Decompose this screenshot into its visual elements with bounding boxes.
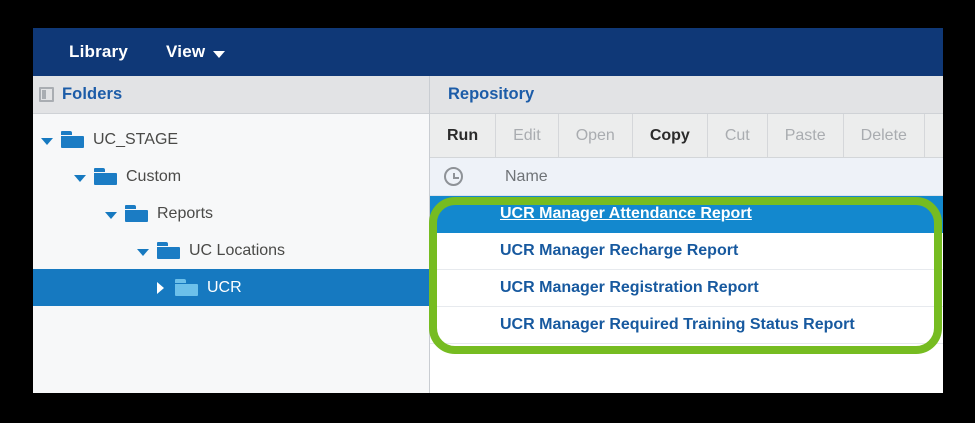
folder-icon: [175, 279, 198, 296]
chevron-down-icon: [213, 51, 225, 58]
menu-item-library[interactable]: Library: [69, 42, 128, 62]
repository-toolbar: Run Edit Open Copy Cut Paste Delete: [430, 114, 943, 158]
report-name: UCR Manager Attendance Report: [500, 205, 752, 223]
clock-icon[interactable]: [444, 167, 463, 186]
folder-icon: [94, 168, 117, 185]
folder-icon: [157, 242, 180, 259]
menu-item-view-label: View: [166, 42, 205, 62]
open-button: Open: [559, 114, 633, 157]
column-header-name[interactable]: Name: [505, 168, 548, 186]
chevron-down-icon[interactable]: [74, 175, 86, 182]
chevron-right-icon[interactable]: [157, 282, 164, 294]
report-list-header: Name: [430, 158, 943, 196]
tree-item-label: UC Locations: [189, 242, 285, 260]
folders-panel: Folders UC_STAGE Custom: [33, 76, 430, 393]
top-menu-bar: Library View: [33, 28, 943, 76]
paste-button: Paste: [768, 114, 844, 157]
edit-button: Edit: [496, 114, 559, 157]
list-item[interactable]: UCR Manager Registration Report: [430, 270, 943, 307]
report-name: UCR Manager Required Training Status Rep…: [500, 316, 855, 334]
report-list: UCR Manager Attendance Report UCR Manage…: [430, 196, 943, 344]
folder-icon: [125, 205, 148, 222]
folders-panel-header: Folders: [33, 76, 429, 114]
chevron-down-icon[interactable]: [137, 249, 149, 256]
menu-item-view[interactable]: View: [166, 42, 225, 62]
panel-collapse-icon[interactable]: [39, 87, 54, 102]
folders-panel-title: Folders: [62, 85, 122, 104]
report-name: UCR Manager Recharge Report: [500, 242, 738, 260]
screenshot-root: Library View Folders UC_STAGE: [0, 0, 975, 423]
tree-item-label: Custom: [126, 168, 181, 186]
repository-panel-title: Repository: [448, 85, 534, 104]
tree-item-label: UC_STAGE: [93, 131, 178, 149]
list-item[interactable]: UCR Manager Recharge Report: [430, 233, 943, 270]
chevron-down-icon[interactable]: [105, 212, 117, 219]
list-item[interactable]: UCR Manager Required Training Status Rep…: [430, 307, 943, 344]
folder-tree: UC_STAGE Custom Reports: [33, 114, 429, 306]
menu-item-library-label: Library: [69, 42, 128, 62]
copy-button[interactable]: Copy: [633, 114, 708, 157]
repository-panel-header: Repository: [430, 76, 943, 114]
tree-item-uc-locations[interactable]: UC Locations: [33, 232, 429, 269]
tree-item-ucr[interactable]: UCR: [33, 269, 429, 306]
tree-item-reports[interactable]: Reports: [33, 195, 429, 232]
tree-item-custom[interactable]: Custom: [33, 158, 429, 195]
chevron-down-icon[interactable]: [41, 138, 53, 145]
repository-panel: Repository Run Edit Open Copy Cut Paste …: [430, 76, 943, 393]
tree-item-label: UCR: [207, 279, 242, 297]
application-window: Library View Folders UC_STAGE: [33, 28, 943, 393]
run-button[interactable]: Run: [430, 114, 496, 157]
list-item[interactable]: UCR Manager Attendance Report: [430, 196, 943, 233]
cut-button: Cut: [708, 114, 768, 157]
panels-container: Folders UC_STAGE Custom: [33, 76, 943, 393]
folder-icon: [61, 131, 84, 148]
delete-button: Delete: [844, 114, 925, 157]
tree-item-label: Reports: [157, 205, 213, 223]
report-name: UCR Manager Registration Report: [500, 279, 759, 297]
tree-item-uc-stage[interactable]: UC_STAGE: [33, 121, 429, 158]
